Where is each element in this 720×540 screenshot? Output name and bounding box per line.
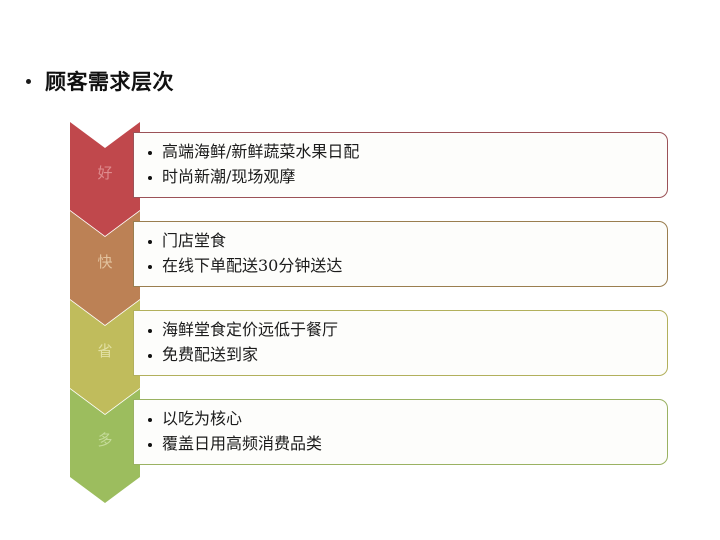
list-bullet-icon [148,151,152,155]
list-item: 免费配送到家 [148,343,657,368]
list-bullet-icon [148,176,152,180]
list-item: 时尚新潮/现场观摩 [148,165,657,190]
list-bullet-icon [148,240,152,244]
chevron-text-box-inner: 高端海鲜/新鲜蔬菜水果日配时尚新潮/现场观摩 [134,133,667,197]
chevron-label: 快 [70,255,140,270]
list-item-text: 覆盖日用高频消费品类 [162,432,657,457]
title-bullet-icon [26,79,31,84]
chevron-text-box-inner: 海鲜堂食定价远低于餐厅免费配送到家 [134,311,667,375]
list-item: 门店堂食 [148,229,657,254]
page-title-text: 顾客需求层次 [45,72,174,93]
chevron-text-box: 门店堂食在线下单配送30分钟送达 [133,221,668,287]
list-item-text: 海鲜堂食定价远低于餐厅 [162,318,657,343]
list-item: 高端海鲜/新鲜蔬菜水果日配 [148,140,657,165]
chevron-label: 好 [70,166,140,181]
chevron-text-box-inner: 门店堂食在线下单配送30分钟送达 [134,222,667,286]
list-item-text: 门店堂食 [162,229,657,254]
chevron-text-box: 高端海鲜/新鲜蔬菜水果日配时尚新潮/现场观摩 [133,132,668,198]
list-item-text: 免费配送到家 [162,343,657,368]
page-title: 顾客需求层次 [26,72,174,93]
list-item: 海鲜堂食定价远低于餐厅 [148,318,657,343]
chevron-label: 省 [70,344,140,359]
list-item-text: 以吃为核心 [162,407,657,432]
list-item: 在线下单配送30分钟送达 [148,254,657,279]
list-bullet-icon [148,329,152,333]
list-bullet-icon [148,354,152,358]
list-bullet-icon [148,443,152,447]
list-item-text: 时尚新潮/现场观摩 [162,165,657,190]
chevron-text-box: 以吃为核心覆盖日用高频消费品类 [133,399,668,465]
list-item-text: 高端海鲜/新鲜蔬菜水果日配 [162,140,657,165]
chevron-label: 多 [70,433,140,448]
chevron-text-box-inner: 以吃为核心覆盖日用高频消费品类 [134,400,667,464]
list-item: 以吃为核心 [148,407,657,432]
list-item-text: 在线下单配送30分钟送达 [162,254,657,279]
list-bullet-icon [148,418,152,422]
list-bullet-icon [148,265,152,269]
list-item: 覆盖日用高频消费品类 [148,432,657,457]
chevron-text-box: 海鲜堂食定价远低于餐厅免费配送到家 [133,310,668,376]
slide-canvas: 顾客需求层次 好高端海鲜/新鲜蔬菜水果日配时尚新潮/现场观摩快门店堂食在线下单配… [0,0,720,540]
